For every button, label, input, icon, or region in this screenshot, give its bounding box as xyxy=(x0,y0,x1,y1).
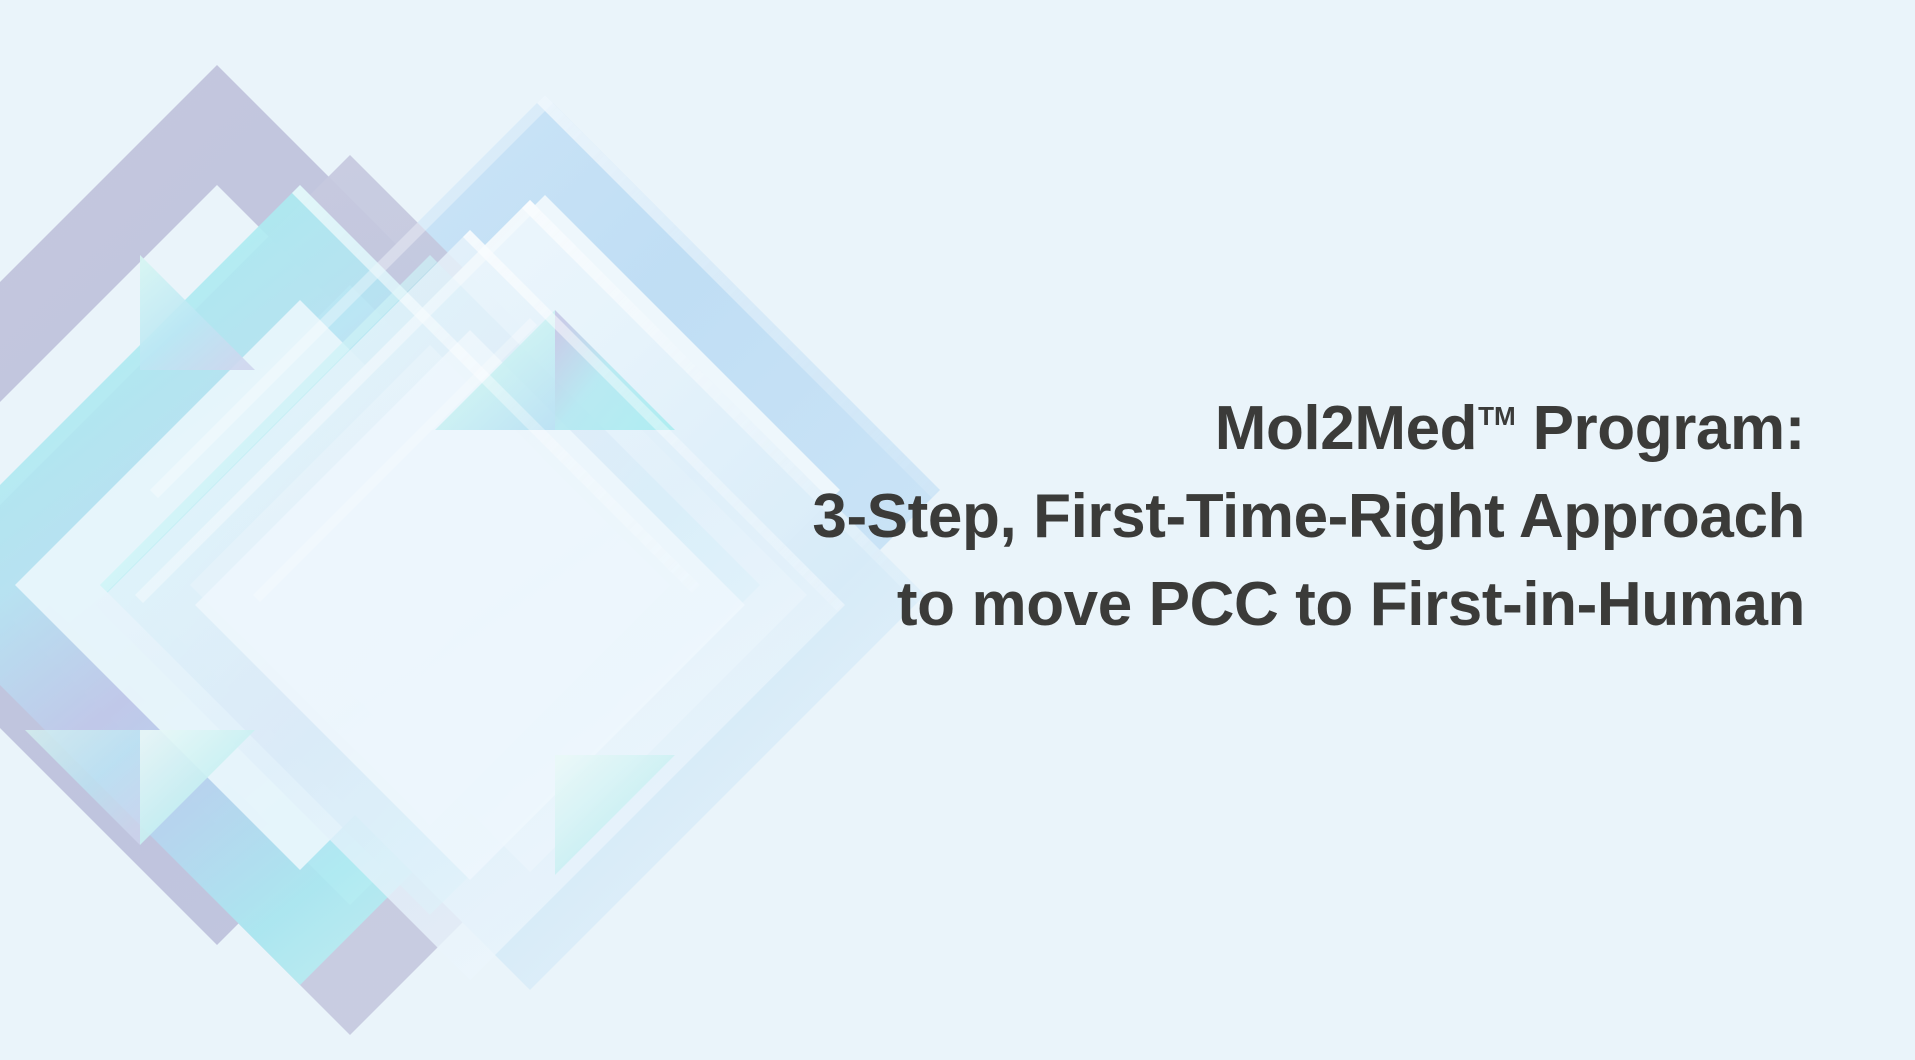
inner-triangle-lower-center xyxy=(555,755,675,875)
title-line-1: Mol2MedTM Program: xyxy=(625,372,1805,473)
inner-triangle-upper-left xyxy=(140,255,255,370)
slide-canvas: Mol2MedTM Program: 3-Step, First-Time-Ri… xyxy=(0,0,1915,1060)
inner-triangle-lower-left xyxy=(25,730,255,845)
trademark-icon: TM xyxy=(1478,401,1516,431)
title-line-1-suffix: Program: xyxy=(1516,394,1805,463)
title-line-3: to move PCC to First-in-Human xyxy=(625,561,1805,649)
page-title: Mol2MedTM Program: 3-Step, First-Time-Ri… xyxy=(625,372,1805,649)
title-line-2: 3-Step, First-Time-Right Approach xyxy=(625,473,1805,561)
diamond-frame-cyan xyxy=(0,185,700,985)
diamond-frame-lavender-back xyxy=(0,65,657,945)
title-product-name: Mol2Med xyxy=(1215,394,1477,463)
